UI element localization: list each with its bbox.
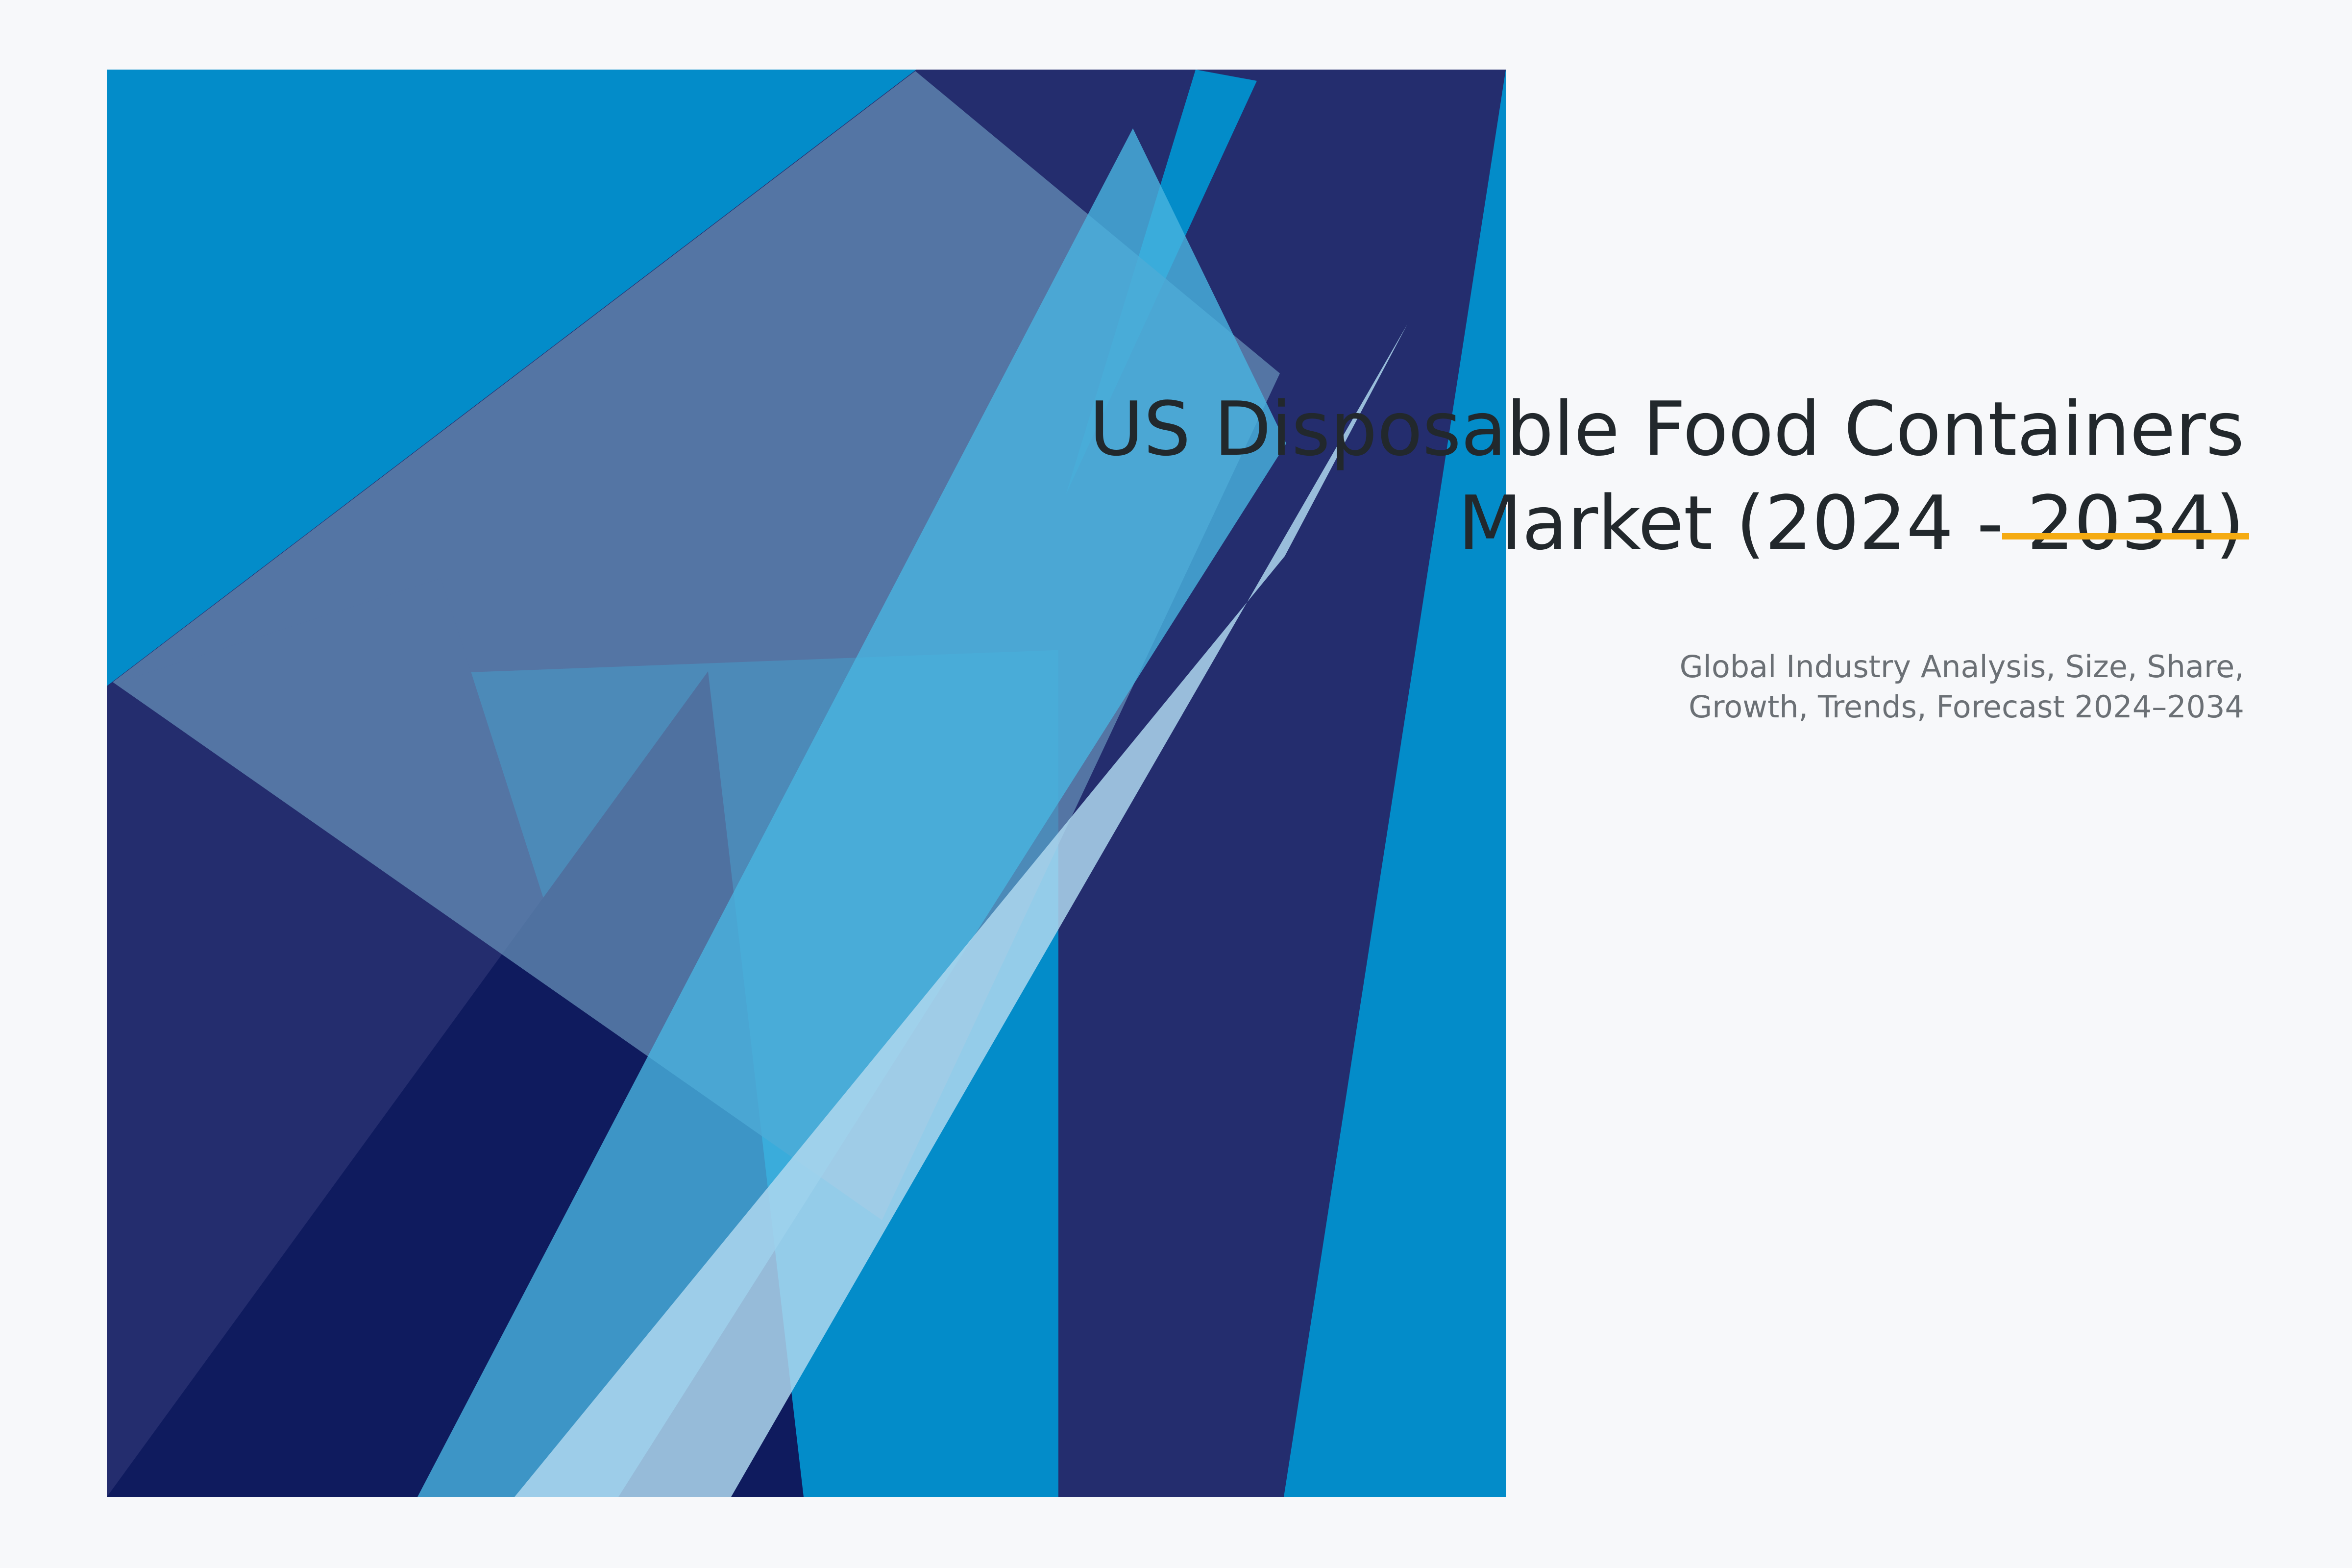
cover-text-block: US Disposable Food Containers Market (20… [1053, 382, 2244, 570]
steel-blue-quad-overlay [113, 71, 1280, 1220]
title-underline-accent [2002, 533, 2249, 539]
navy-left-block [107, 578, 735, 1497]
navy-right-block [1058, 70, 1506, 1497]
cover-page: US Disposable Food Containers Market (20… [0, 0, 2352, 1568]
abstract-geometric-cover-art [0, 0, 2352, 1568]
page-title: US Disposable Food Containers Market (20… [1053, 382, 2244, 570]
page-subtitle: Global Industry Analysis, Size, Share, G… [1509, 647, 2244, 727]
sky-blue-band [417, 128, 1286, 1497]
navy-top-right-wedge [107, 70, 1506, 686]
cyan-base-rect [107, 70, 1506, 1497]
dark-navy-spike [107, 671, 804, 1497]
